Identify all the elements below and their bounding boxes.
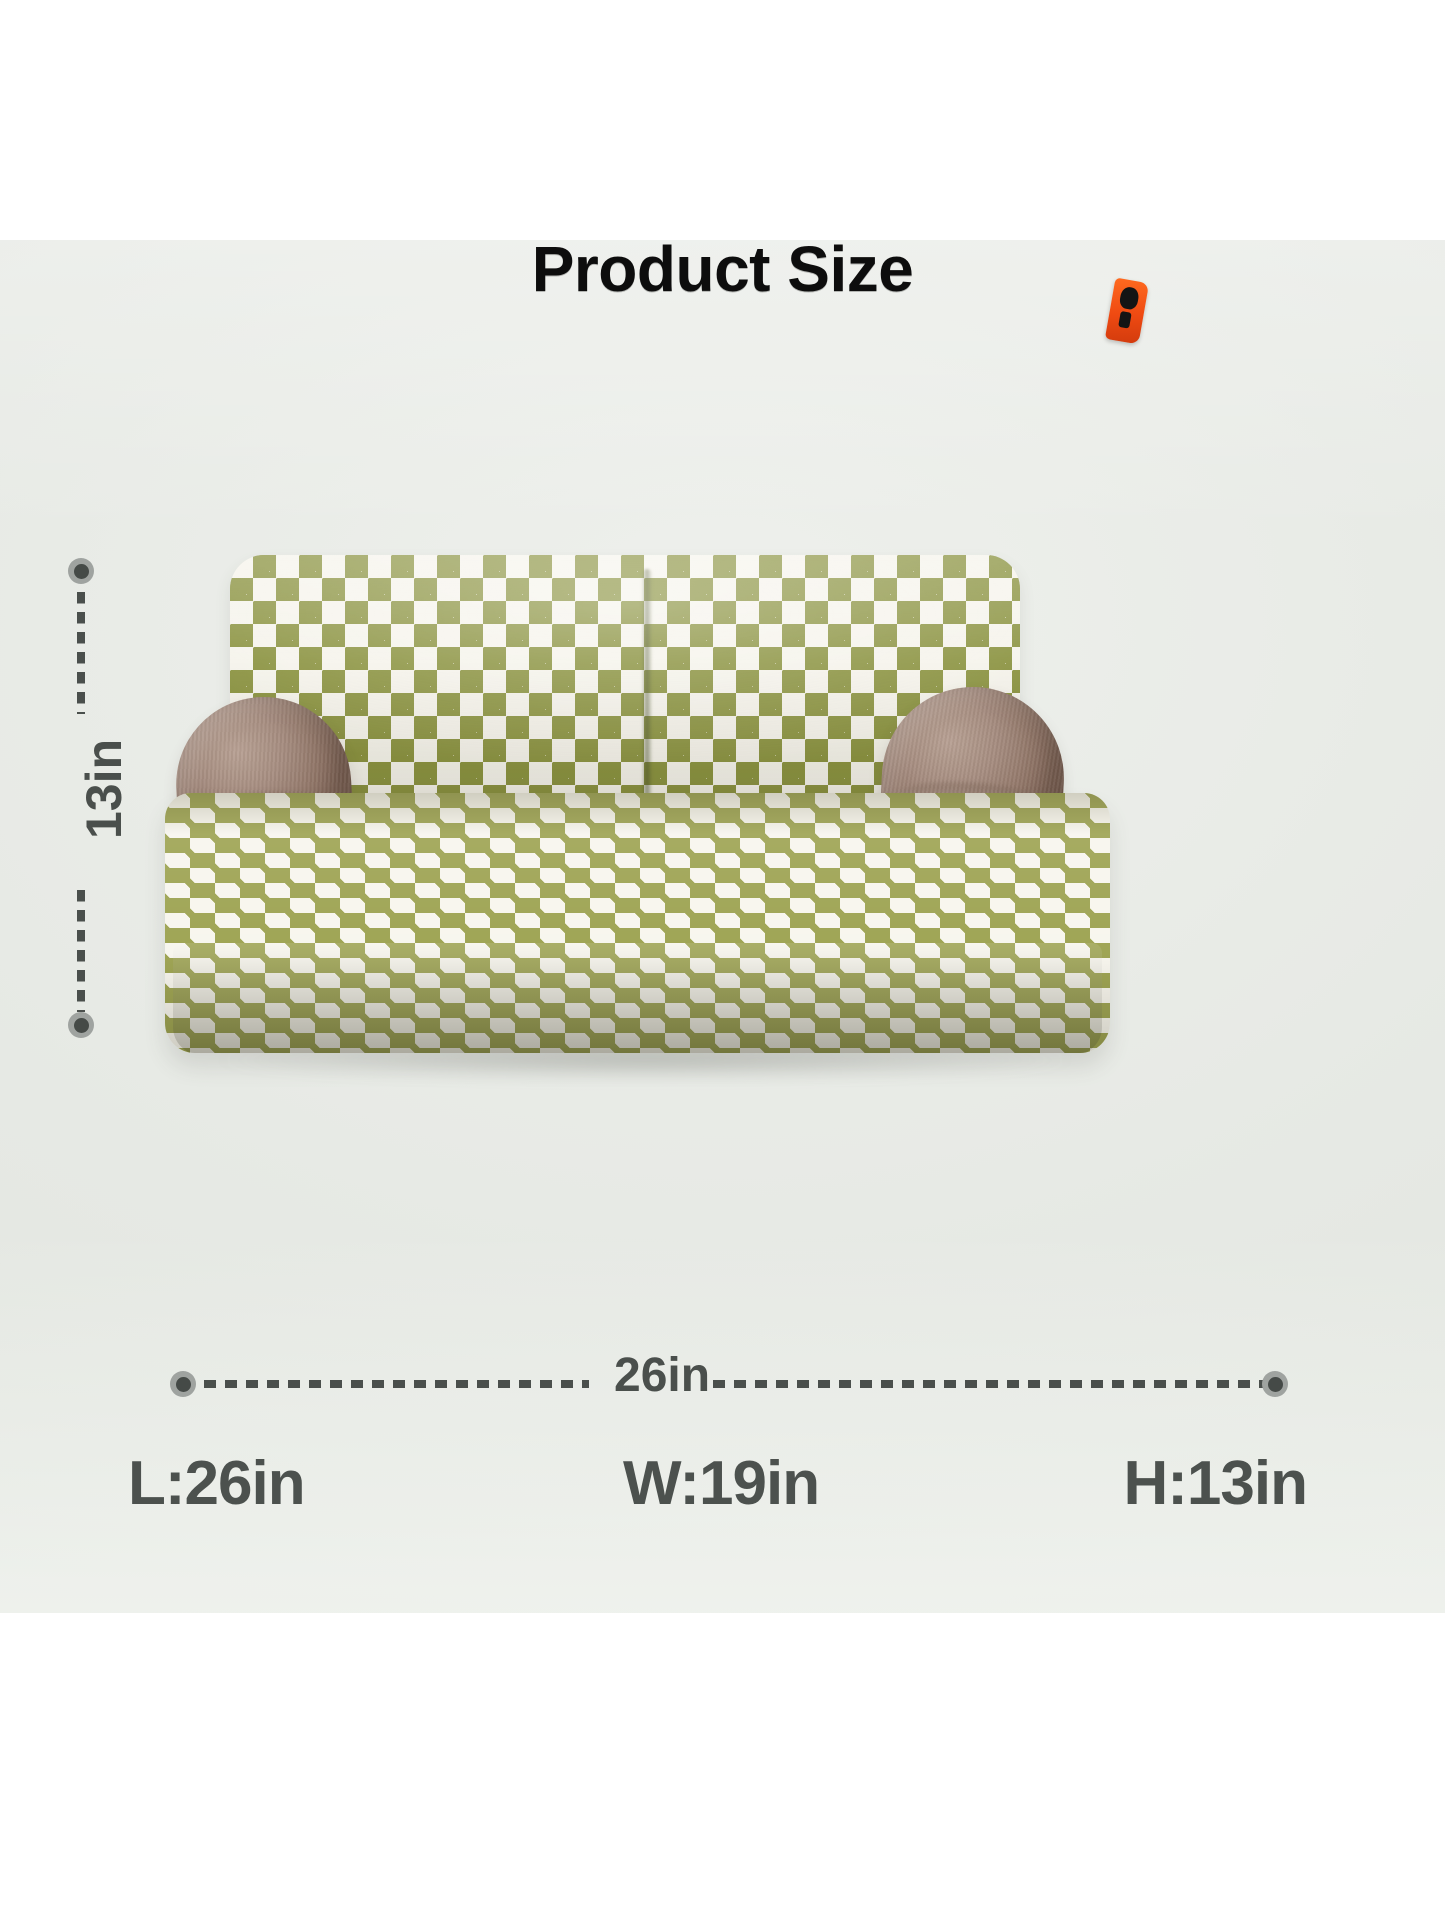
bottom-white-band [0, 1613, 1445, 1927]
dimension-endpoint-top-icon [68, 558, 94, 584]
backrest-seam [642, 569, 652, 817]
sofa-seat-cushion [165, 793, 1110, 1053]
top-white-band [0, 0, 1445, 240]
dimension-label-height: 13in [75, 729, 133, 849]
page-title: Product Size [0, 232, 1445, 306]
tag-glyph-upper [1118, 286, 1140, 311]
dimension-endpoint-right-icon [1262, 1371, 1288, 1397]
product-size-infographic: Product Size 13in 26in [0, 0, 1445, 1927]
spec-width: W:19in [623, 1448, 819, 1519]
tag-glyph-lower [1118, 311, 1132, 329]
product-image-pet-sofa [165, 545, 1110, 1065]
spec-height: H:13in [1124, 1448, 1307, 1519]
dimension-line-horizontal-right [713, 1380, 1269, 1388]
spec-row: L:26in W:19in H:13in [0, 1448, 1445, 1519]
seat-shading [165, 793, 1110, 1053]
dimension-line-horizontal-left [204, 1380, 589, 1388]
dimension-line-vertical-lower [77, 890, 85, 1012]
dimension-endpoint-left-icon [170, 1371, 196, 1397]
dimension-label-length: 26in [614, 1348, 710, 1403]
dimension-endpoint-bottom-icon [68, 1012, 94, 1038]
dimension-line-vertical-upper [77, 592, 85, 714]
spec-length: L:26in [128, 1448, 305, 1519]
